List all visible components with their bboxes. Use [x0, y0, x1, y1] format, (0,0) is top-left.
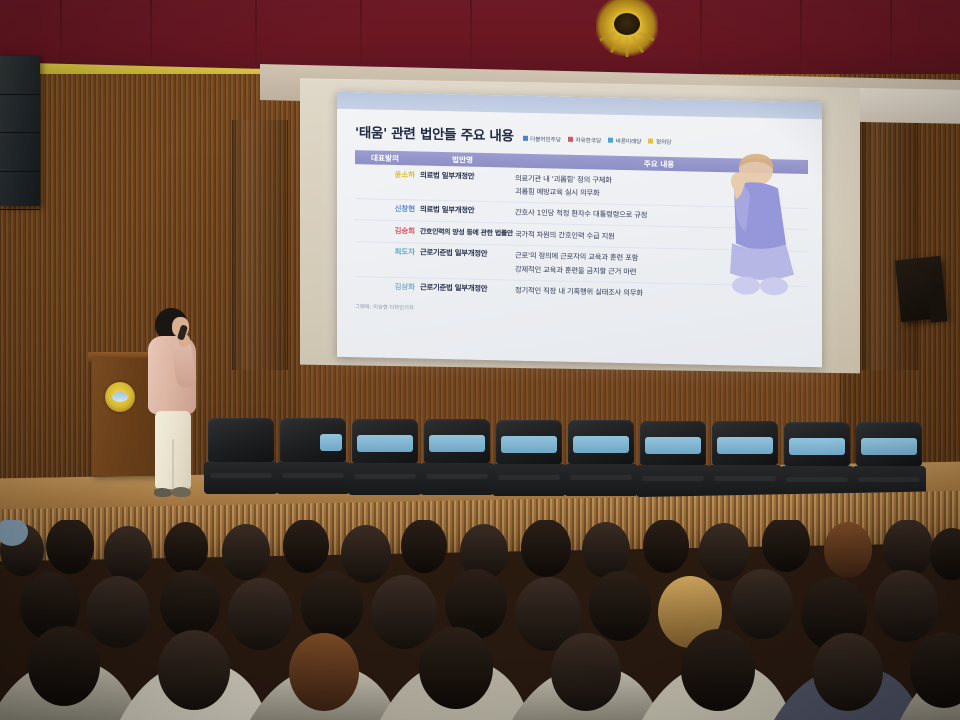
column-header-proposer: 대표발의: [355, 152, 415, 164]
projection-screen: '태움' 관련 법안들 주요 내용 더불어민주당 자유한국당 바른미래당: [337, 92, 822, 368]
stage-chair: [852, 422, 926, 498]
stage-chair: [420, 419, 494, 495]
proposer-name: 김승희: [355, 224, 420, 236]
legend-swatch-icon: [608, 138, 613, 143]
legend-item: 자유한국당: [568, 135, 601, 144]
presenter-pants: [155, 411, 191, 489]
presenter-shoe: [172, 487, 191, 497]
legend-swatch-icon: [523, 136, 528, 141]
column-header-bill: 법안명: [415, 153, 510, 166]
proposer-name: 최도자: [355, 246, 420, 258]
stage-chair: [708, 421, 782, 497]
stage-chair: [492, 420, 566, 496]
bill-name: 간호인력의 양성 등에 관한 법률안: [420, 225, 515, 237]
podium-emblem-icon: [105, 382, 135, 412]
bill-name: 근로기준법 일부개정안: [420, 282, 515, 295]
legend-swatch-icon: [568, 137, 573, 142]
line-array-speaker-icon: [0, 56, 40, 206]
side-door-left: [232, 120, 288, 370]
presentation-slide: '태움' 관련 법안들 주요 내용 더불어민주당 자유한국당 바른미래당: [337, 109, 822, 368]
side-door-right: [862, 120, 918, 370]
school-crest-icon: [596, 0, 658, 56]
legend-swatch-icon: [648, 139, 653, 144]
legend-item: 더불어민주당: [523, 134, 561, 143]
stage-curtain: [0, 0, 960, 74]
proposer-name: 윤소하: [355, 168, 420, 180]
bill-name: 의료법 일부개정안: [420, 204, 515, 217]
slide-title: '태움' 관련 법안들 주요 내용: [355, 121, 514, 144]
audience-heads: [0, 520, 960, 720]
bill-name: 근로기준법 일부개정안: [420, 247, 515, 260]
proposer-name: 김삼화: [355, 281, 420, 293]
proposer-name: 신창현: [355, 203, 420, 215]
wall-speaker-bracket: [929, 295, 948, 323]
stage-chair: [636, 421, 710, 497]
stage-chair: [276, 418, 350, 494]
stage-chair: [780, 422, 854, 498]
stage-chair: [348, 419, 422, 495]
slide-legend: 더불어민주당 자유한국당 바른미래당 정의당: [523, 134, 672, 145]
bill-name: 의료법 일부개정안: [420, 169, 515, 182]
presenter-shoe: [154, 488, 172, 497]
crouching-nurse-illustration-icon: [716, 151, 812, 303]
presenter: [138, 308, 204, 508]
legend-item: 정의당: [648, 137, 671, 146]
audience-crowd: [0, 520, 960, 720]
stage-chair: [204, 418, 278, 494]
legend-item: 바른미래당: [608, 136, 641, 145]
stage-chair: [564, 420, 638, 496]
auditorium-photo: '태움' 관련 법안들 주요 내용 더불어민주당 자유한국당 바른미래당: [0, 0, 960, 720]
